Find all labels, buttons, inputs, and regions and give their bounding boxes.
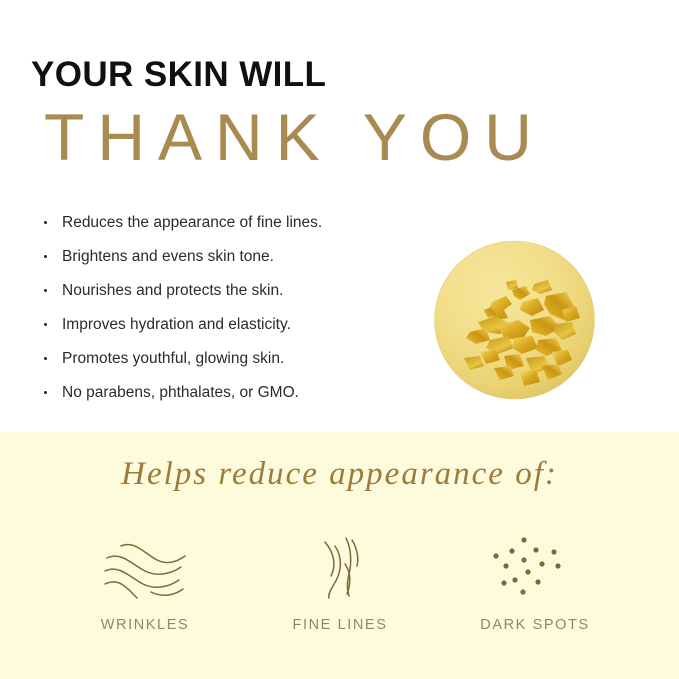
bullet-dot-icon (44, 255, 47, 258)
wavy-lines-icon (93, 527, 197, 607)
list-item: Nourishes and protects the skin. (42, 281, 432, 300)
vertical-lines-icon (305, 527, 375, 607)
poster-root: YOUR SKIN WILL THANK YOU Reduces the app… (0, 0, 679, 679)
list-item-label: Promotes youthful, glowing skin. (62, 350, 284, 367)
bottom-section: Helps reduce appearance of: WR (0, 432, 679, 679)
page-title-secondary: THANK YOU (44, 100, 545, 176)
top-section: YOUR SKIN WILL THANK YOU Reduces the app… (0, 0, 679, 432)
scattered-dots-icon (490, 527, 580, 607)
bullet-dot-icon (44, 357, 47, 360)
list-item: Promotes youthful, glowing skin. (42, 349, 432, 368)
list-item-label: Reduces the appearance of fine lines. (62, 214, 322, 231)
feature-dark-spots: DARK SPOTS (450, 527, 620, 633)
feature-label-fine-lines: FINE LINES (293, 617, 388, 633)
feature-wrinkles: WRINKLES (60, 527, 230, 633)
features-row: WRINKLES FINE LINES (60, 527, 620, 633)
list-item: Brightens and evens skin tone. (42, 247, 432, 266)
benefits-list: Reduces the appearance of fine lines. Br… (42, 213, 432, 417)
page-title-primary: YOUR SKIN WILL (31, 57, 326, 92)
feature-label-wrinkles: WRINKLES (101, 617, 190, 633)
bullet-dot-icon (44, 221, 47, 224)
gold-flake-circle (434, 240, 595, 400)
section-heading: Helps reduce appearance of: (0, 456, 679, 493)
bullet-dot-icon (44, 391, 47, 394)
feature-label-dark-spots: DARK SPOTS (480, 617, 589, 633)
list-item: No parabens, phthalates, or GMO. (42, 383, 432, 402)
bullet-dot-icon (44, 323, 47, 326)
list-item: Improves hydration and elasticity. (42, 315, 432, 334)
bullet-dot-icon (44, 289, 47, 292)
feature-fine-lines: FINE LINES (255, 527, 425, 633)
list-item-label: No parabens, phthalates, or GMO. (62, 384, 299, 401)
list-item-label: Improves hydration and elasticity. (62, 316, 291, 333)
list-item-label: Brightens and evens skin tone. (62, 248, 274, 265)
list-item: Reduces the appearance of fine lines. (42, 213, 432, 232)
list-item-label: Nourishes and protects the skin. (62, 282, 283, 299)
